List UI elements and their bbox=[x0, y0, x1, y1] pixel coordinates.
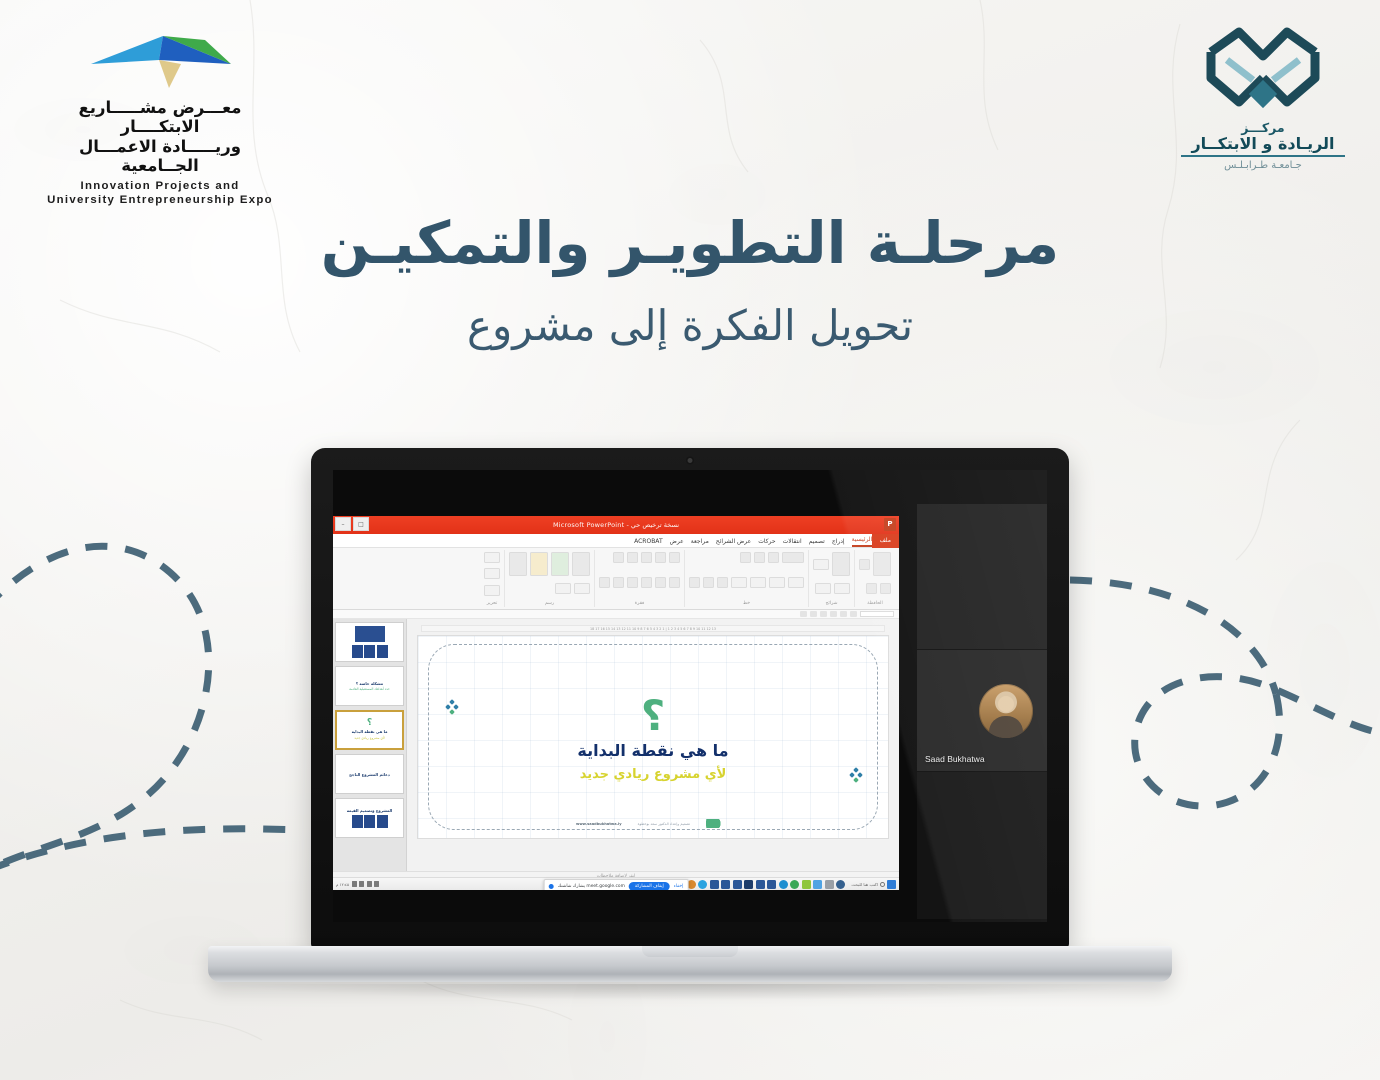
powerpoint-window: – □ نسخة ترخيص حي‏ - Microsoft PowerPoin… bbox=[333, 516, 899, 890]
start-slideshow-icon[interactable] bbox=[830, 611, 837, 617]
save-icon[interactable] bbox=[800, 611, 807, 617]
page-title: مرحلـة التطويـر والتمكيـن bbox=[0, 212, 1380, 276]
list-item[interactable]: 16 المشروع وتصميم القيمة bbox=[335, 798, 404, 838]
ribbon-group-clipboard[interactable]: الحافظة bbox=[854, 550, 895, 607]
tab-transitions[interactable]: انتقالات bbox=[783, 538, 802, 547]
ribbon-group-label: فقرة bbox=[599, 601, 680, 606]
slide-content: ؟ ما هي نقطة البداية لأي مشروع ريادي جدي… bbox=[418, 636, 888, 838]
character-spacing-icon[interactable] bbox=[717, 577, 728, 588]
open-book-mark-icon bbox=[1199, 26, 1327, 118]
telegram-icon bbox=[698, 880, 707, 889]
share-indicator-icon bbox=[549, 884, 554, 889]
arrange-icon[interactable] bbox=[551, 552, 569, 576]
align-right-icon[interactable] bbox=[669, 577, 680, 588]
laptop-base bbox=[208, 946, 1172, 982]
expo-english-line1: Innovation Projects and bbox=[44, 179, 276, 193]
line-spacing-icon[interactable] bbox=[613, 552, 624, 563]
ribbon-group-label: خط bbox=[689, 601, 804, 606]
format-painter-icon[interactable] bbox=[866, 583, 877, 594]
quick-access-toolbar[interactable] bbox=[333, 610, 899, 619]
thumb-graphic bbox=[355, 626, 385, 642]
ribbon-group-paragraph[interactable]: فقرة bbox=[594, 550, 684, 607]
drive-icon bbox=[813, 880, 822, 889]
slide-editor[interactable]: 18 17 16 15 14 13 12 11 10 9 8 7 6 5 4 3… bbox=[407, 619, 899, 871]
participant-strip: Saad Bukhatwa bbox=[917, 504, 1047, 920]
cut-icon[interactable] bbox=[859, 559, 870, 570]
poster-canvas: معـــرض مشـــــاريع الابتكــــار وريــــ… bbox=[0, 0, 1380, 1080]
decrease-indent-icon[interactable] bbox=[641, 552, 652, 563]
shapes-icon[interactable] bbox=[572, 552, 590, 576]
thumb-line1: مشكلة خاصة ؟ bbox=[356, 681, 383, 686]
office2-icon bbox=[767, 880, 776, 889]
thumb-bars bbox=[352, 645, 388, 658]
tab-view[interactable]: عرض bbox=[670, 538, 684, 547]
question-mark-icon: ؟ bbox=[641, 698, 665, 734]
reset-button[interactable] bbox=[834, 583, 850, 594]
share-source-text: meet.google.com يشارك شاشتك bbox=[558, 884, 625, 889]
center-line1: مركـــز bbox=[1178, 120, 1348, 135]
macbook-mockup: Saad Bukhatwa – □ bbox=[208, 448, 1172, 1000]
decrease-font-icon[interactable] bbox=[740, 552, 751, 563]
system-tray[interactable]: ١٢:٤٥ م bbox=[336, 881, 379, 887]
tell-me-box[interactable] bbox=[860, 611, 894, 617]
italic-icon[interactable] bbox=[769, 577, 785, 588]
search-icon bbox=[880, 882, 885, 887]
expo-arabic-line2: وريـــــادة الاعمـــال الجــامعية bbox=[44, 137, 276, 176]
copy-icon[interactable] bbox=[880, 583, 891, 594]
expo-arabic-line1: معـــرض مشـــــاريع الابتكــــار bbox=[44, 98, 276, 137]
thumb-line1: دعائم المشروع الناجح bbox=[349, 772, 390, 777]
select-button[interactable] bbox=[484, 585, 500, 596]
ribbon-group-label: تحرير bbox=[484, 601, 500, 606]
slide-heading: ما هي نقطة البداية bbox=[577, 741, 728, 760]
slide-brand-icon bbox=[706, 819, 730, 828]
thumb-bars bbox=[352, 815, 388, 828]
thumb-question-icon: ؟ bbox=[367, 720, 372, 727]
font-name-box[interactable] bbox=[782, 552, 804, 563]
redo-icon[interactable] bbox=[820, 611, 827, 617]
text-direction-icon[interactable] bbox=[599, 577, 610, 588]
change-case-icon[interactable] bbox=[703, 577, 714, 588]
shadow-icon[interactable] bbox=[731, 577, 747, 588]
layout-button[interactable] bbox=[813, 559, 829, 570]
chrome-icon bbox=[790, 880, 799, 889]
window-controls[interactable]: – □ bbox=[335, 517, 369, 531]
participant-name: Saad Bukhatwa bbox=[925, 754, 985, 764]
participant-tile[interactable] bbox=[917, 504, 1047, 650]
slide-thumbnail-panel[interactable]: 12 13 مشكلة خاصة ؟ حدد أهدافك المستقبلية… bbox=[333, 619, 407, 871]
tab-review[interactable]: مراجعة bbox=[691, 538, 709, 547]
avatar bbox=[979, 684, 1033, 738]
expo-english-line2: University Entrepreneurship Expo bbox=[44, 193, 276, 207]
ribbon-group-font[interactable]: خط bbox=[684, 550, 808, 607]
webcam-icon bbox=[688, 458, 693, 463]
thumb-line2: لأي مشروع ريادي جديد bbox=[354, 736, 385, 740]
font-size-box[interactable] bbox=[768, 552, 779, 563]
bullets-icon[interactable] bbox=[669, 552, 680, 563]
find-icon[interactable] bbox=[484, 552, 500, 563]
horizontal-ruler: 18 17 16 15 14 13 12 11 10 9 8 7 6 5 4 3… bbox=[421, 625, 885, 632]
slide-website: www.saadbukhatwa.ly bbox=[576, 822, 622, 826]
ribbon[interactable]: الحافظة bbox=[333, 548, 899, 610]
headings-block: مرحلـة التطويـر والتمكيـن تحويل الفكرة إ… bbox=[0, 212, 1380, 350]
office-icon bbox=[756, 880, 765, 889]
clock[interactable]: ١٢:٤٥ م bbox=[336, 882, 349, 887]
minimize-icon[interactable]: – bbox=[335, 517, 351, 531]
list-item[interactable]: 15 دعائم المشروع الناجح bbox=[335, 754, 404, 794]
print-icon[interactable] bbox=[840, 611, 847, 617]
increase-font-icon[interactable] bbox=[754, 552, 765, 563]
thumb-number: 14 bbox=[403, 714, 404, 719]
word2-icon bbox=[721, 880, 730, 889]
tab-file[interactable]: ملف bbox=[872, 534, 899, 548]
increase-indent-icon[interactable] bbox=[627, 552, 638, 563]
google-meet-window: Saad Bukhatwa – □ bbox=[333, 470, 1047, 922]
paste-icon[interactable] bbox=[873, 552, 891, 576]
tab-insert[interactable]: إدراج bbox=[832, 538, 845, 547]
tab-slideshow[interactable]: عرض الشرائح bbox=[716, 538, 751, 547]
app-icon bbox=[825, 880, 834, 889]
bold-icon[interactable] bbox=[788, 577, 804, 588]
globe-icon bbox=[836, 880, 845, 889]
tab-animations[interactable]: حركات bbox=[758, 538, 775, 547]
acrobat-icon bbox=[802, 880, 811, 889]
wifi-icon[interactable] bbox=[352, 881, 357, 887]
shape-effects-button[interactable] bbox=[555, 583, 571, 594]
thumb-line2: حدد أهدافك المستقبلية القادمة bbox=[349, 687, 390, 691]
ppt-title-text: نسخة ترخيص حي‏ - Microsoft PowerPoint bbox=[553, 521, 679, 529]
paper-plane-icon bbox=[85, 30, 235, 92]
participant-tile[interactable]: Saad Bukhatwa bbox=[917, 650, 1047, 772]
volume-icon[interactable] bbox=[359, 881, 364, 887]
font-color-icon[interactable] bbox=[689, 577, 700, 588]
laptop-lid: Saad Bukhatwa – □ bbox=[311, 448, 1069, 948]
ribbon-group-label: الحافظة bbox=[859, 601, 891, 606]
search-placeholder: اكتب هنا للبحث bbox=[851, 882, 878, 887]
start-button-icon[interactable] bbox=[887, 880, 896, 889]
active-slide[interactable]: ؟ ما هي نقطة البداية لأي مشروع ريادي جدي… bbox=[417, 635, 889, 839]
stop-sharing-button[interactable]: إيقاف المشاركة bbox=[629, 882, 670, 890]
underline-icon[interactable] bbox=[750, 577, 766, 588]
align-left-icon[interactable] bbox=[641, 577, 652, 588]
star-icon[interactable] bbox=[850, 611, 857, 617]
search-input[interactable]: اكتب هنا للبحث bbox=[851, 882, 885, 887]
restore-icon[interactable]: □ bbox=[353, 517, 369, 531]
edge-icon bbox=[779, 880, 788, 889]
chevron-up-icon[interactable] bbox=[374, 881, 379, 887]
laptop-notch bbox=[642, 946, 738, 957]
justify-icon[interactable] bbox=[627, 577, 638, 588]
columns-icon[interactable] bbox=[613, 577, 624, 588]
powerpoint-icon: P bbox=[884, 518, 896, 531]
numbering-icon[interactable] bbox=[655, 552, 666, 563]
tab-acrobat[interactable]: ACROBAT bbox=[634, 538, 663, 547]
list-item[interactable]: 13 مشكلة خاصة ؟ حدد أهدافك المستقبلية ال… bbox=[335, 666, 404, 706]
slide-footer: تصميم وإعداد الدكتور سعد بوخطوة www.saad… bbox=[418, 819, 888, 828]
center-line3: جـامعـة طـرابـلـس bbox=[1178, 160, 1348, 171]
tab-design[interactable]: تصميم bbox=[809, 538, 825, 547]
slide-subheading: لأي مشروع ريادي جديد bbox=[580, 767, 727, 782]
shape-outline-button[interactable] bbox=[574, 583, 590, 594]
thumb-line1: المشروع وتصميم القيمة bbox=[347, 808, 393, 813]
hide-button[interactable]: إخفاء bbox=[674, 884, 684, 889]
laptop-shadow bbox=[240, 984, 1140, 1000]
replace-button[interactable] bbox=[484, 568, 500, 579]
page-subtitle: تحويل الفكرة إلى مشروع bbox=[0, 302, 1380, 350]
center-line2: الريـادة و الابتكــار bbox=[1178, 135, 1348, 153]
innovation-expo-logo: معـــرض مشـــــاريع الابتكــــار وريــــ… bbox=[44, 30, 276, 208]
powerpoint-icon bbox=[733, 880, 742, 889]
excel-icon bbox=[744, 880, 753, 889]
participant-tile[interactable] bbox=[917, 772, 1047, 920]
laptop-screen: Saad Bukhatwa – □ bbox=[333, 470, 1047, 922]
quick-styles-icon[interactable] bbox=[530, 552, 548, 576]
ribbon-group-label: رسم bbox=[509, 601, 590, 606]
undo-icon[interactable] bbox=[810, 611, 817, 617]
section-button[interactable] bbox=[815, 583, 831, 594]
shape-fill-icon[interactable] bbox=[509, 552, 527, 576]
slide-credit: تصميم وإعداد الدكتور سعد بوخطوة bbox=[638, 822, 690, 826]
ribbon-group-drawing[interactable]: رسم bbox=[504, 550, 594, 607]
ribbon-tab-strip[interactable]: ملف الصفحة الرئيسية إدراج تصميم انتقالات… bbox=[333, 534, 899, 548]
entrepreneurship-center-logo: مركـــز الريـادة و الابتكــار جـامعـة طـ… bbox=[1178, 26, 1348, 171]
word-icon bbox=[710, 880, 719, 889]
ribbon-group-slides[interactable]: شرائح bbox=[808, 550, 854, 607]
list-item[interactable]: 12 bbox=[335, 622, 404, 662]
ppt-workspace: 18 17 16 15 14 13 12 11 10 9 8 7 6 5 4 3… bbox=[333, 619, 899, 871]
battery-icon[interactable] bbox=[367, 881, 372, 887]
ribbon-group-editing[interactable]: تحرير bbox=[480, 550, 504, 607]
ppt-title-bar: – □ نسخة ترخيص حي‏ - Microsoft PowerPoin… bbox=[333, 516, 899, 534]
thumb-line1: ما هي نقطة البداية bbox=[352, 729, 388, 734]
shared-screen-region: – □ نسخة ترخيص حي‏ - Microsoft PowerPoin… bbox=[333, 516, 899, 890]
share-notification[interactable]: إخفاء إيقاف المشاركة meet.google.com يشا… bbox=[544, 879, 689, 890]
align-center-icon[interactable] bbox=[655, 577, 666, 588]
laptop-base-wrap bbox=[208, 946, 1172, 1000]
new-slide-icon[interactable] bbox=[832, 552, 850, 576]
ribbon-group-label: شرائح bbox=[813, 601, 850, 606]
center-divider bbox=[1181, 155, 1344, 157]
list-item[interactable]: 14 ؟ ما هي نقطة البداية لأي مشروع ريادي … bbox=[335, 710, 404, 750]
